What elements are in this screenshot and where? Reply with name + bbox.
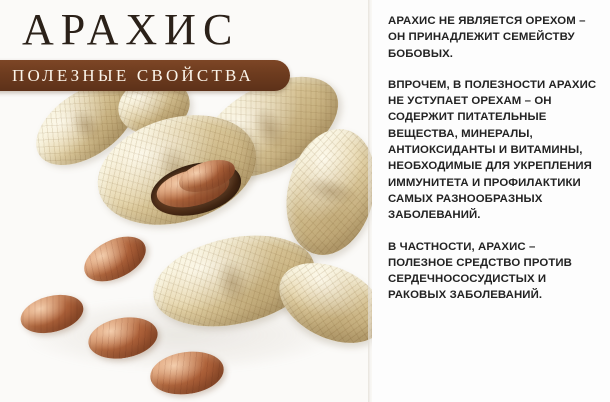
panel-divider <box>368 0 372 402</box>
fact-paragraph-1: АРАХИС НЕ ЯВЛЯЕТСЯ ОРЕХОМ – ОН ПРИНАДЛЕЖ… <box>388 13 602 62</box>
ribbon-label: ПОЛЕЗНЫЕ СВОЙСТВА <box>12 60 276 91</box>
fact-paragraph-3: В ЧАСТНОСТИ, АРАХИС – ПОЛЕЗНОЕ СРЕДСТВО … <box>388 239 602 304</box>
peanut-kernel-left-upper <box>77 227 153 290</box>
facts-text-column: АРАХИС НЕ ЯВЛЯЕТСЯ ОРЕХОМ – ОН ПРИНАДЛЕЖ… <box>388 13 602 304</box>
page-title: АРАХИС <box>22 8 239 52</box>
fact-paragraph-2: ВПРОЧЕМ, В ПОЛЕЗНОСТИ АРАХИС НЕ УСТУПАЕТ… <box>388 77 602 224</box>
subtitle-ribbon-banner: ПОЛЕЗНЫЕ СВОЙСТВА <box>0 60 290 91</box>
peanut-infographic-poster: АРАХИС ПОЛЕЗНЫЕ СВОЙСТВА АРАХИС НЕ ЯВЛЯЕ… <box>0 0 610 402</box>
